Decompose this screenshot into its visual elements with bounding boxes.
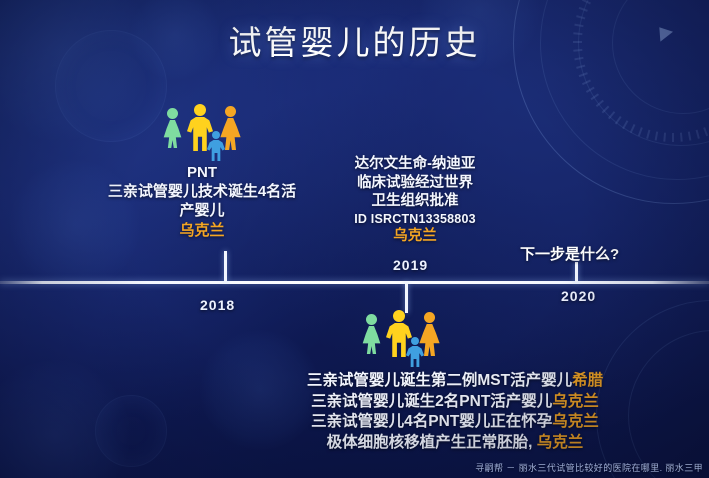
dial-tick bbox=[615, 116, 622, 125]
timeline-tick-2018 bbox=[224, 251, 227, 282]
dial-tick bbox=[646, 130, 650, 139]
background-bokeh-ring bbox=[95, 395, 167, 467]
event-bottom-line-2-country: 乌克兰 bbox=[552, 393, 599, 410]
event-left-line-1: PNT bbox=[92, 163, 312, 182]
timeline-year-2020: 2020 bbox=[561, 288, 596, 304]
timeline-tick-2019 bbox=[405, 282, 408, 313]
dial-tick bbox=[596, 100, 604, 107]
dial-tick bbox=[663, 133, 666, 142]
dial-tick bbox=[680, 133, 683, 142]
slide-canvas: 试管婴儿的历史 2018 2019 2020 bbox=[0, 0, 709, 478]
timeline-axis bbox=[0, 281, 709, 284]
event-bottom-line-1-text: 三亲试管婴儿诞生第二例MST活产婴儿 bbox=[307, 372, 572, 389]
event-bottom-line-4-text: 极体细胞核移植产生正常胚胎, bbox=[327, 434, 537, 451]
event-bottom-line-3-country: 乌克兰 bbox=[552, 413, 599, 430]
dial-tick bbox=[586, 87, 595, 93]
dial-tick bbox=[579, 7, 588, 12]
event-bottom-line-1-country: 希腊 bbox=[572, 372, 603, 389]
event-left-line-2: 三亲试管婴儿技术诞生4名活 bbox=[92, 182, 312, 201]
dial-tick bbox=[703, 127, 708, 136]
dial-tick bbox=[672, 133, 674, 142]
dial-tick bbox=[608, 111, 615, 119]
event-bottom-line-4: 极体细胞核移植产生正常胚胎, 乌克兰 bbox=[289, 433, 621, 454]
event-middle-trial-id: ID ISRCTN13358803 bbox=[330, 211, 500, 227]
dial-tick bbox=[591, 93, 600, 100]
event-bottom-line-3-text: 三亲试管婴儿4名PNT婴儿正在怀孕 bbox=[311, 413, 552, 430]
dial-tick bbox=[582, 0, 591, 4]
next-step-question: 下一步是什么? bbox=[520, 243, 619, 264]
dial-tick bbox=[638, 127, 643, 136]
event-middle-country: 乌克兰 bbox=[330, 227, 500, 246]
event-middle-line-3: 卫生组织批准 bbox=[330, 192, 500, 211]
watermark-text: 寻嗣帮 － 丽水三代试管比较好的医院在哪里. 丽水三甲 bbox=[475, 461, 703, 474]
dial-tick bbox=[655, 131, 659, 140]
dial-tick bbox=[582, 80, 591, 86]
event-text-bottom: 三亲试管婴儿诞生第二例MST活产婴儿希腊 三亲试管婴儿诞生2名PNT活产婴儿乌克… bbox=[289, 371, 621, 453]
event-middle-line-1: 达尔文生命-纳迪亚 bbox=[330, 155, 500, 174]
event-bottom-line-3: 三亲试管婴儿4名PNT婴儿正在怀孕乌克兰 bbox=[289, 412, 621, 433]
timeline-tick-2020 bbox=[575, 262, 578, 282]
background-bokeh bbox=[0, 360, 130, 478]
dial-tick bbox=[622, 120, 628, 129]
family-group-icon-bottom bbox=[359, 310, 443, 366]
family-group-icon-top bbox=[160, 104, 244, 160]
event-left-country: 乌克兰 bbox=[92, 221, 312, 240]
event-bottom-line-4-country: 乌克兰 bbox=[537, 434, 584, 451]
event-bottom-line-1: 三亲试管婴儿诞生第二例MST活产婴儿希腊 bbox=[289, 371, 621, 392]
dial-tick bbox=[688, 131, 692, 140]
dial-tick bbox=[630, 124, 636, 133]
background-dial-lower2 bbox=[628, 330, 709, 478]
dial-tick bbox=[579, 72, 588, 77]
event-left-line-3: 产婴儿 bbox=[92, 201, 312, 220]
event-bottom-line-2-text: 三亲试管婴儿诞生2名PNT活产婴儿 bbox=[311, 393, 552, 410]
timeline-year-2018: 2018 bbox=[200, 297, 235, 313]
event-text-middle: 达尔文生命-纳迪亚 临床试验经过世界 卫生组织批准 ID ISRCTN13358… bbox=[330, 155, 500, 245]
dial-tick bbox=[576, 65, 585, 69]
dial-tick bbox=[696, 130, 700, 139]
event-bottom-line-2: 三亲试管婴儿诞生2名PNT活产婴儿乌克兰 bbox=[289, 392, 621, 413]
event-text-left: PNT 三亲试管婴儿技术诞生4名活 产婴儿 乌克兰 bbox=[92, 163, 312, 240]
dial-tick bbox=[602, 106, 610, 114]
page-title: 试管婴儿的历史 bbox=[0, 16, 709, 64]
event-middle-line-2: 临床试验经过世界 bbox=[330, 174, 500, 193]
timeline-year-2019: 2019 bbox=[393, 257, 428, 273]
